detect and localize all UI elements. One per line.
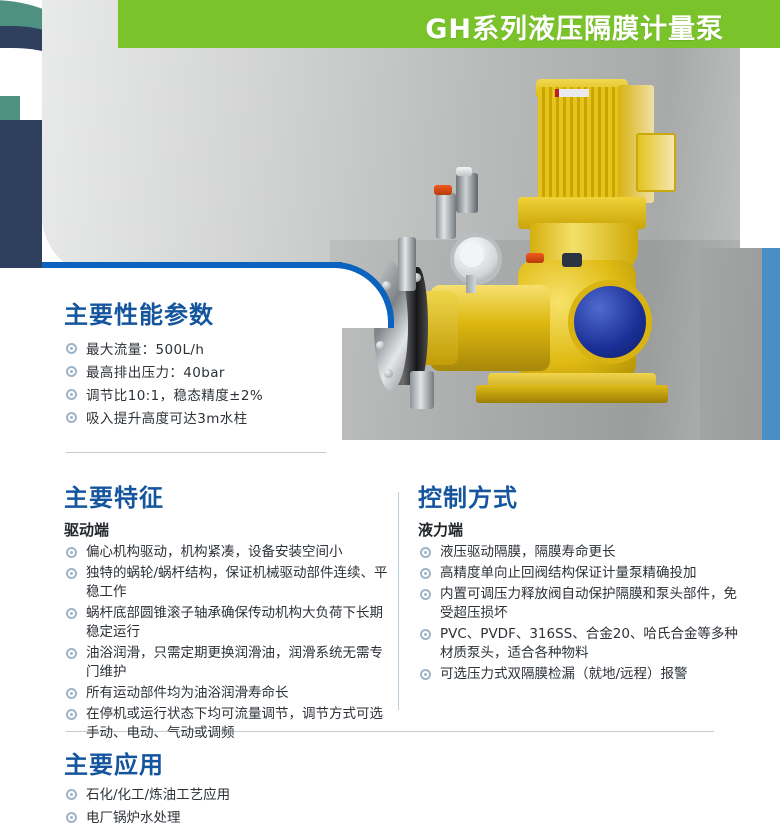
navy-arc-leg — [0, 120, 42, 275]
features-heading: 主要特征 — [64, 478, 394, 513]
list-item-text: PVC、PVDF、316SS、合金20、哈氏合金等多种材质泵头，适合各种物料 — [440, 626, 738, 661]
features-subheading: 驱动端 — [64, 519, 394, 540]
list-item: 调节比10:1，稳态精度±2% — [64, 385, 364, 407]
list-item-text: 偏心机构驱动，机构紧凑，设备安装空间小 — [86, 544, 343, 560]
valve-knob-red — [434, 185, 452, 195]
features-divider — [66, 452, 326, 453]
list-item: 吸入提升高度可达3m水柱 — [64, 408, 364, 430]
list-item: 偏心机构驱动，机构紧凑，设备安装空间小 — [64, 543, 394, 562]
performance-parameters-list: 最大流量：500L/h 最高排出压力：40bar 调节比10:1，稳态精度±2%… — [64, 339, 364, 430]
list-item-text: 最大流量：500L/h — [86, 342, 204, 358]
motor-nameplate — [555, 89, 589, 97]
list-item: PVC、PVDF、316SS、合金20、哈氏合金等多种材质泵头，适合各种物料 — [418, 625, 750, 663]
list-item: 电厂锅炉水处理 — [64, 808, 704, 829]
list-item: 可选压力式双隔膜检漏（就地/远程）报警 — [418, 665, 750, 684]
list-item-text: 在停机或运行状态下均可流量调节，调节方式可选手动、电动、气动或调频 — [86, 706, 383, 741]
list-item: 蜗杆底部圆锥滚子轴承确保传动机构大负荷下长期稳定运行 — [64, 604, 394, 642]
pump-foot — [410, 371, 434, 409]
bullet-icon — [420, 547, 431, 558]
list-item-text: 内置可调压力释放阀自动保护隔膜和泵头部件，免受超压损坏 — [440, 586, 737, 621]
list-item-text: 高精度单向止回阀结构保证计量泵精确投加 — [440, 565, 697, 581]
control-block: 控制方式 液力端 液压驱动隔膜，隔膜寿命更长 高精度单向止回阀结构保证计量泵精确… — [418, 478, 750, 686]
list-item: 液压驱动隔膜，隔膜寿命更长 — [418, 543, 750, 562]
list-item: 油浴润滑，只需定期更换润滑油，润滑系统无需专门维护 — [64, 644, 394, 682]
list-item-text: 电厂锅炉水处理 — [86, 810, 181, 826]
column-divider — [398, 492, 399, 710]
flange-bolt — [376, 341, 385, 350]
bullet-icon — [66, 812, 77, 823]
bullet-icon — [66, 688, 77, 699]
applications-heading: 主要应用 — [64, 745, 704, 780]
list-item: 内置可调压力释放阀自动保护隔膜和泵头部件，免受超压损坏 — [418, 585, 750, 623]
title-bar: GH系列液压隔膜计量泵 — [118, 0, 780, 48]
list-item: 独特的蜗轮/蜗杆结构，保证机械驱动部件连续、平稳工作 — [64, 564, 394, 602]
gearbox-vent — [562, 253, 582, 267]
list-item: 最大流量：500L/h — [64, 339, 364, 361]
list-item-text: 油浴润滑，只需定期更换润滑油，润滑系统无需专门维护 — [86, 645, 383, 680]
suction-fitting — [398, 237, 416, 291]
features-block: 主要特征 驱动端 偏心机构驱动，机构紧凑，设备安装空间小 独特的蜗轮/蜗杆结构，… — [64, 478, 394, 745]
list-item-text: 液压驱动隔膜，隔膜寿命更长 — [440, 544, 616, 560]
valve-cap — [456, 167, 472, 176]
list-item: 在停机或运行状态下均可流量调节，调节方式可选手动、电动、气动或调频 — [64, 705, 394, 743]
bullet-icon — [420, 568, 431, 579]
bullet-icon — [66, 412, 77, 423]
list-item: 所有运动部件均为油浴润滑寿命长 — [64, 684, 394, 703]
bullet-icon — [66, 709, 77, 720]
bullet-icon — [66, 366, 77, 377]
control-list: 液压驱动隔膜，隔膜寿命更长 高精度单向止回阀结构保证计量泵精确投加 内置可调压力… — [418, 543, 750, 684]
list-item-text: 石化/化工/炼油工艺应用 — [86, 787, 230, 803]
bullet-icon — [66, 343, 77, 354]
bullet-icon — [66, 608, 77, 619]
list-item-text: 调节比10:1，稳态精度±2% — [86, 388, 263, 404]
list-item: 最高排出压力：40bar — [64, 362, 364, 384]
performance-parameters-heading: 主要性能参数 — [64, 295, 364, 330]
performance-parameters-block: 主要性能参数 最大流量：500L/h 最高排出压力：40bar 调节比10:1，… — [64, 295, 364, 431]
control-heading: 控制方式 — [418, 478, 750, 513]
motor-junction-box — [636, 133, 676, 192]
bleed-valve — [456, 173, 478, 213]
list-item: 石化/化工/炼油工艺应用 — [64, 785, 704, 806]
page-title: GH系列液压隔膜计量泵 — [425, 7, 724, 46]
list-item-text: 可选压力式双隔膜检漏（就地/远程）报警 — [440, 666, 688, 682]
valve-knob-red — [526, 253, 544, 263]
list-item-text: 独特的蜗轮/蜗杆结构，保证机械驱动部件连续、平稳工作 — [86, 565, 388, 600]
bullet-icon — [420, 669, 431, 680]
list-item-text: 蜗杆底部圆锥滚子轴承确保传动机构大负荷下长期稳定运行 — [86, 605, 383, 640]
bullet-icon — [66, 568, 77, 579]
motor-body — [538, 87, 626, 202]
relief-valve — [436, 193, 456, 239]
adjustment-dial — [568, 280, 652, 364]
bullet-icon — [420, 629, 431, 640]
bullet-icon — [66, 389, 77, 400]
pressure-gauge-stem — [466, 275, 476, 293]
list-item-text: 吸入提升高度可达3m水柱 — [86, 411, 248, 427]
bullet-icon — [66, 648, 77, 659]
pressure-gauge-face — [460, 243, 484, 267]
list-item: 高精度单向止回阀结构保证计量泵精确投加 — [418, 564, 750, 583]
list-item-text: 最高排出压力：40bar — [86, 365, 225, 381]
applications-block: 主要应用 石化/化工/炼油工艺应用 电厂锅炉水处理 — [64, 745, 704, 830]
bullet-icon — [420, 589, 431, 600]
pump-base-plate — [476, 385, 668, 403]
control-subheading: 液力端 — [418, 519, 750, 540]
bullet-icon — [66, 547, 77, 558]
list-item-text: 所有运动部件均为油浴润滑寿命长 — [86, 685, 289, 701]
brochure-page: GH系列液压隔膜计量泵 主要性能参数 最大流量：500L/h 最高排出压力：40… — [0, 0, 780, 830]
applications-list: 石化/化工/炼油工艺应用 电厂锅炉水处理 — [64, 785, 704, 829]
product-image-pump — [390, 85, 720, 440]
flange-bolt — [384, 369, 393, 378]
bullet-icon — [66, 789, 77, 800]
features-list: 偏心机构驱动，机构紧凑，设备安装空间小 独特的蜗轮/蜗杆结构，保证机械驱动部件连… — [64, 543, 394, 743]
